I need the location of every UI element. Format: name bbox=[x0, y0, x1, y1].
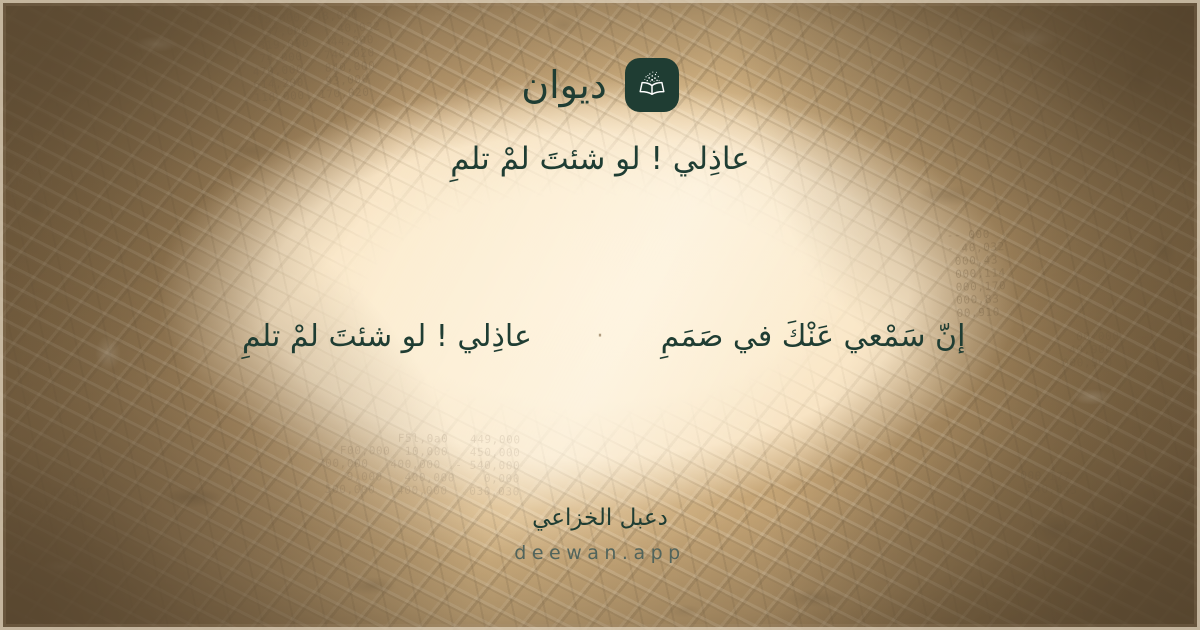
social-share-card: 48,000 295,000 40,032 - 37,000 44,800 31… bbox=[0, 0, 1200, 630]
open-book-sparkles-icon bbox=[635, 68, 669, 102]
verse-line: إنّ سَمْعي عَنْكَ في صَمَمِ · عاذِلي ! ل… bbox=[0, 313, 1200, 361]
brand-lockup[interactable]: ديوان bbox=[0, 58, 1200, 112]
hemistich-second: إنّ سَمْعي عَنْكَ في صَمَمِ bbox=[648, 313, 978, 361]
hemistich-separator-dot: · bbox=[552, 326, 648, 348]
poet-name: دعبل الخزاعي bbox=[0, 502, 1200, 534]
hemistich-first: عاذِلي ! لو شئتَ لمْ تلمِ bbox=[222, 313, 552, 361]
app-logo-badge[interactable] bbox=[625, 58, 679, 112]
card-content: ديوان عاذِلي ! لو شئتَ لمْ تلمِ إنّ سَمْ… bbox=[0, 0, 1200, 630]
poem-title: عاذِلي ! لو شئتَ لمْ تلمِ bbox=[0, 136, 1200, 183]
site-url[interactable]: deewan.app bbox=[0, 540, 1200, 567]
app-wordmark: ديوان bbox=[521, 66, 607, 104]
